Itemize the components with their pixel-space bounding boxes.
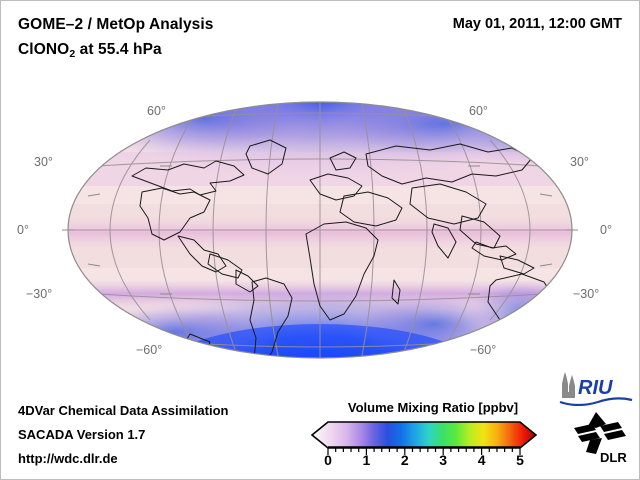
colorbar-tickmarks (310, 446, 538, 456)
map-panel (14, 84, 626, 382)
lat-label-eq-left: 0° (17, 223, 29, 237)
timestamp: May 01, 2011, 12:00 GMT (453, 16, 622, 32)
dlr-pinwheel-icon (574, 412, 626, 454)
riu-wave-icon (560, 398, 632, 405)
colorbar-tick-label: 1 (362, 452, 370, 468)
riu-tower-icon (562, 372, 575, 398)
lat-label-s30-left: −30° (26, 287, 52, 301)
lat-label-s60-right: −60° (470, 343, 496, 357)
colorbar-title: Volume Mixing Ratio [ppbv] (330, 400, 536, 415)
colorbar-tick-label: 0 (324, 452, 332, 468)
lat-label-n60-right: 60° (469, 104, 488, 118)
colorbar-axis: 012345 (310, 443, 538, 471)
species-subscript: 2 (69, 48, 75, 60)
riu-logo: RIU (556, 372, 634, 406)
dlr-wordmark: DLR (600, 450, 627, 464)
footer-line-version: SACADA Version 1.7 (18, 427, 145, 442)
dlr-logo: DLR (566, 410, 634, 464)
colorbar-tick-label: 4 (478, 452, 486, 468)
lat-label-eq-right: 0° (600, 223, 612, 237)
footer-line-method: 4DVar Chemical Data Assimilation (18, 403, 229, 418)
lat-label-n30-left: 30° (34, 155, 53, 169)
lat-label-n60-left: 60° (147, 104, 166, 118)
pressure-level-label: at 55.4 hPa (75, 41, 162, 58)
lat-label-n30-right: 30° (570, 155, 589, 169)
species-label: ClONO (18, 41, 69, 58)
page-title: GOME–2 / MetOp Analysis (18, 16, 214, 34)
colorbar-tick-label: 2 (401, 452, 409, 468)
world-map (14, 84, 626, 382)
footer-line-url[interactable]: http://wdc.dlr.de (18, 451, 118, 466)
colorbar-tick-label: 3 (439, 452, 447, 468)
species-subtitle: ClONO2 at 55.4 hPa (18, 41, 162, 59)
riu-wordmark: RIU (578, 377, 613, 399)
lat-label-s60-left: −60° (136, 343, 162, 357)
colorbar-tick-label: 5 (516, 452, 524, 468)
lat-label-s30-right: −30° (573, 287, 599, 301)
